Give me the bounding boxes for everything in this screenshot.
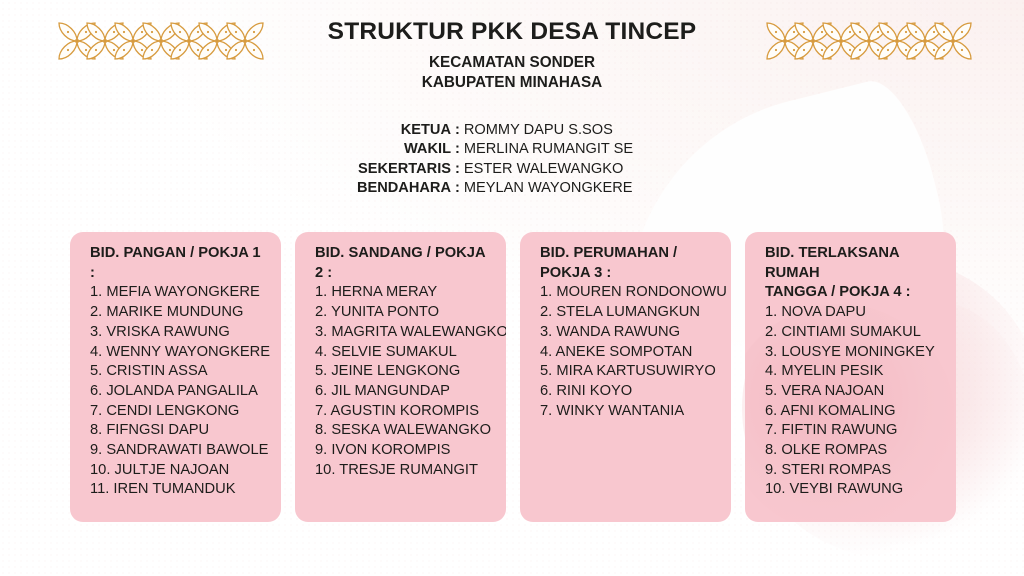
- page-header: STRUKTUR PKK DESA TINCEP KECAMATAN SONDE…: [0, 18, 1024, 93]
- officer-separator: :: [451, 121, 464, 140]
- officer-label: BENDAHARA: [347, 179, 451, 198]
- list-item: 7. WINKY WANTANIA: [540, 402, 715, 422]
- pokja-member-list-1: 1. MEFIA WAYONGKERE 2. MARIKE MUNDUNG 3.…: [90, 283, 265, 500]
- list-item: 9. STERI ROMPAS: [765, 461, 940, 481]
- list-item: 8. SESKA WALEWANGKO: [315, 421, 490, 441]
- list-item: 10. JULTJE NAJOAN: [90, 461, 265, 481]
- list-item: 7. CENDI LENGKONG: [90, 402, 265, 422]
- list-item: 4. MYELIN PESIK: [765, 362, 940, 382]
- officer-separator: :: [451, 160, 464, 179]
- list-item: 5. MIRA KARTUSUWIRYO: [540, 362, 715, 382]
- pokja-card-4: BID. TERLAKSANA RUMAH TANGGA / POKJA 4 :…: [745, 232, 956, 522]
- officer-name: ESTER WALEWANGKO: [464, 160, 623, 179]
- list-item: 3. MAGRITA WALEWANGKO: [315, 323, 490, 343]
- page-title: STRUKTUR PKK DESA TINCEP: [0, 18, 1024, 47]
- list-item: 2. CINTIAMI SUMAKUL: [765, 323, 940, 343]
- list-item: 3. LOUSYE MONINGKEY: [765, 343, 940, 363]
- pokja-card-2: BID. SANDANG / POKJA 2 : 1. HERNA MERAY …: [295, 232, 506, 522]
- officer-label: SEKERTARIS: [347, 160, 451, 179]
- list-item: 6. AFNI KOMALING: [765, 402, 940, 422]
- officer-separator: :: [451, 179, 464, 198]
- officers-list: KETUA : ROMMY DAPU S.SOS WAKIL : MERLINA…: [0, 121, 1024, 198]
- officer-row-bendahara: BENDAHARA : MEYLAN WAYONGKERE: [347, 179, 677, 198]
- list-item: 10. TRESJE RUMANGIT: [315, 461, 490, 481]
- officer-name: MEYLAN WAYONGKERE: [464, 179, 633, 198]
- page-subtitle-2: KABUPATEN MINAHASA: [0, 73, 1024, 93]
- list-item: 10. VEYBI RAWUNG: [765, 480, 940, 500]
- list-item: 2. MARIKE MUNDUNG: [90, 303, 265, 323]
- list-item: 7. AGUSTIN KOROMPIS: [315, 402, 490, 422]
- officer-label: WAKIL: [347, 140, 451, 159]
- pokja-member-list-4: 1. NOVA DAPU 2. CINTIAMI SUMAKUL 3. LOUS…: [765, 303, 940, 500]
- list-item: 6. RINI KOYO: [540, 382, 715, 402]
- list-item: 9. IVON KOROMPIS: [315, 441, 490, 461]
- list-item: 1. NOVA DAPU: [765, 303, 940, 323]
- list-item: 1. MEFIA WAYONGKERE: [90, 283, 265, 303]
- officer-row-ketua: KETUA : ROMMY DAPU S.SOS: [347, 121, 677, 140]
- list-item: 1. HERNA MERAY: [315, 283, 490, 303]
- pokja-card-title: BID. TERLAKSANA RUMAH TANGGA / POKJA 4 :: [765, 244, 940, 303]
- pokja-card-title: BID. PERUMAHAN / POKJA 3 :: [540, 244, 715, 283]
- list-item: 2. YUNITA PONTO: [315, 303, 490, 323]
- pokja-card-title: BID. SANDANG / POKJA 2 :: [315, 244, 490, 283]
- list-item: 3. WANDA RAWUNG: [540, 323, 715, 343]
- list-item: 5. VERA NAJOAN: [765, 382, 940, 402]
- pokja-member-list-2: 1. HERNA MERAY 2. YUNITA PONTO 3. MAGRIT…: [315, 283, 490, 480]
- list-item: 4. ANEKE SOMPOTAN: [540, 343, 715, 363]
- list-item: 8. FIFNGSI DAPU: [90, 421, 265, 441]
- officer-separator: :: [451, 140, 464, 159]
- list-item: 7. FIFTIN RAWUNG: [765, 421, 940, 441]
- list-item: 1. MOUREN RONDONOWU: [540, 283, 715, 303]
- page-subtitle-1: KECAMATAN SONDER: [0, 53, 1024, 73]
- pokja-card-1: BID. PANGAN / POKJA 1 : 1. MEFIA WAYONGK…: [70, 232, 281, 522]
- list-item: 8. OLKE ROMPAS: [765, 441, 940, 461]
- pokja-card-group: BID. PANGAN / POKJA 1 : 1. MEFIA WAYONGK…: [70, 232, 956, 522]
- list-item: 4. SELVIE SUMAKUL: [315, 343, 490, 363]
- pokja-member-list-3: 1. MOUREN RONDONOWU 2. STELA LUMANGKUN 3…: [540, 283, 715, 421]
- list-item: 9. SANDRAWATI BAWOLE: [90, 441, 265, 461]
- list-item: 5. JEINE LENGKONG: [315, 362, 490, 382]
- list-item: 5. CRISTIN ASSA: [90, 362, 265, 382]
- list-item: 4. WENNY WAYONGKERE: [90, 343, 265, 363]
- officer-row-wakil: WAKIL : MERLINA RUMANGIT SE: [347, 140, 677, 159]
- officer-label: KETUA: [347, 121, 451, 140]
- list-item: 2. STELA LUMANGKUN: [540, 303, 715, 323]
- officer-name: ROMMY DAPU S.SOS: [464, 121, 613, 140]
- pokja-card-3: BID. PERUMAHAN / POKJA 3 : 1. MOUREN RON…: [520, 232, 731, 522]
- pokja-card-title: BID. PANGAN / POKJA 1 :: [90, 244, 265, 283]
- officer-name: MERLINA RUMANGIT SE: [464, 140, 633, 159]
- officer-row-sekertaris: SEKERTARIS : ESTER WALEWANGKO: [347, 160, 677, 179]
- list-item: 3. VRISKA RAWUNG: [90, 323, 265, 343]
- list-item: 6. JIL MANGUNDAP: [315, 382, 490, 402]
- list-item: 11. IREN TUMANDUK: [90, 480, 265, 500]
- list-item: 6. JOLANDA PANGALILA: [90, 382, 265, 402]
